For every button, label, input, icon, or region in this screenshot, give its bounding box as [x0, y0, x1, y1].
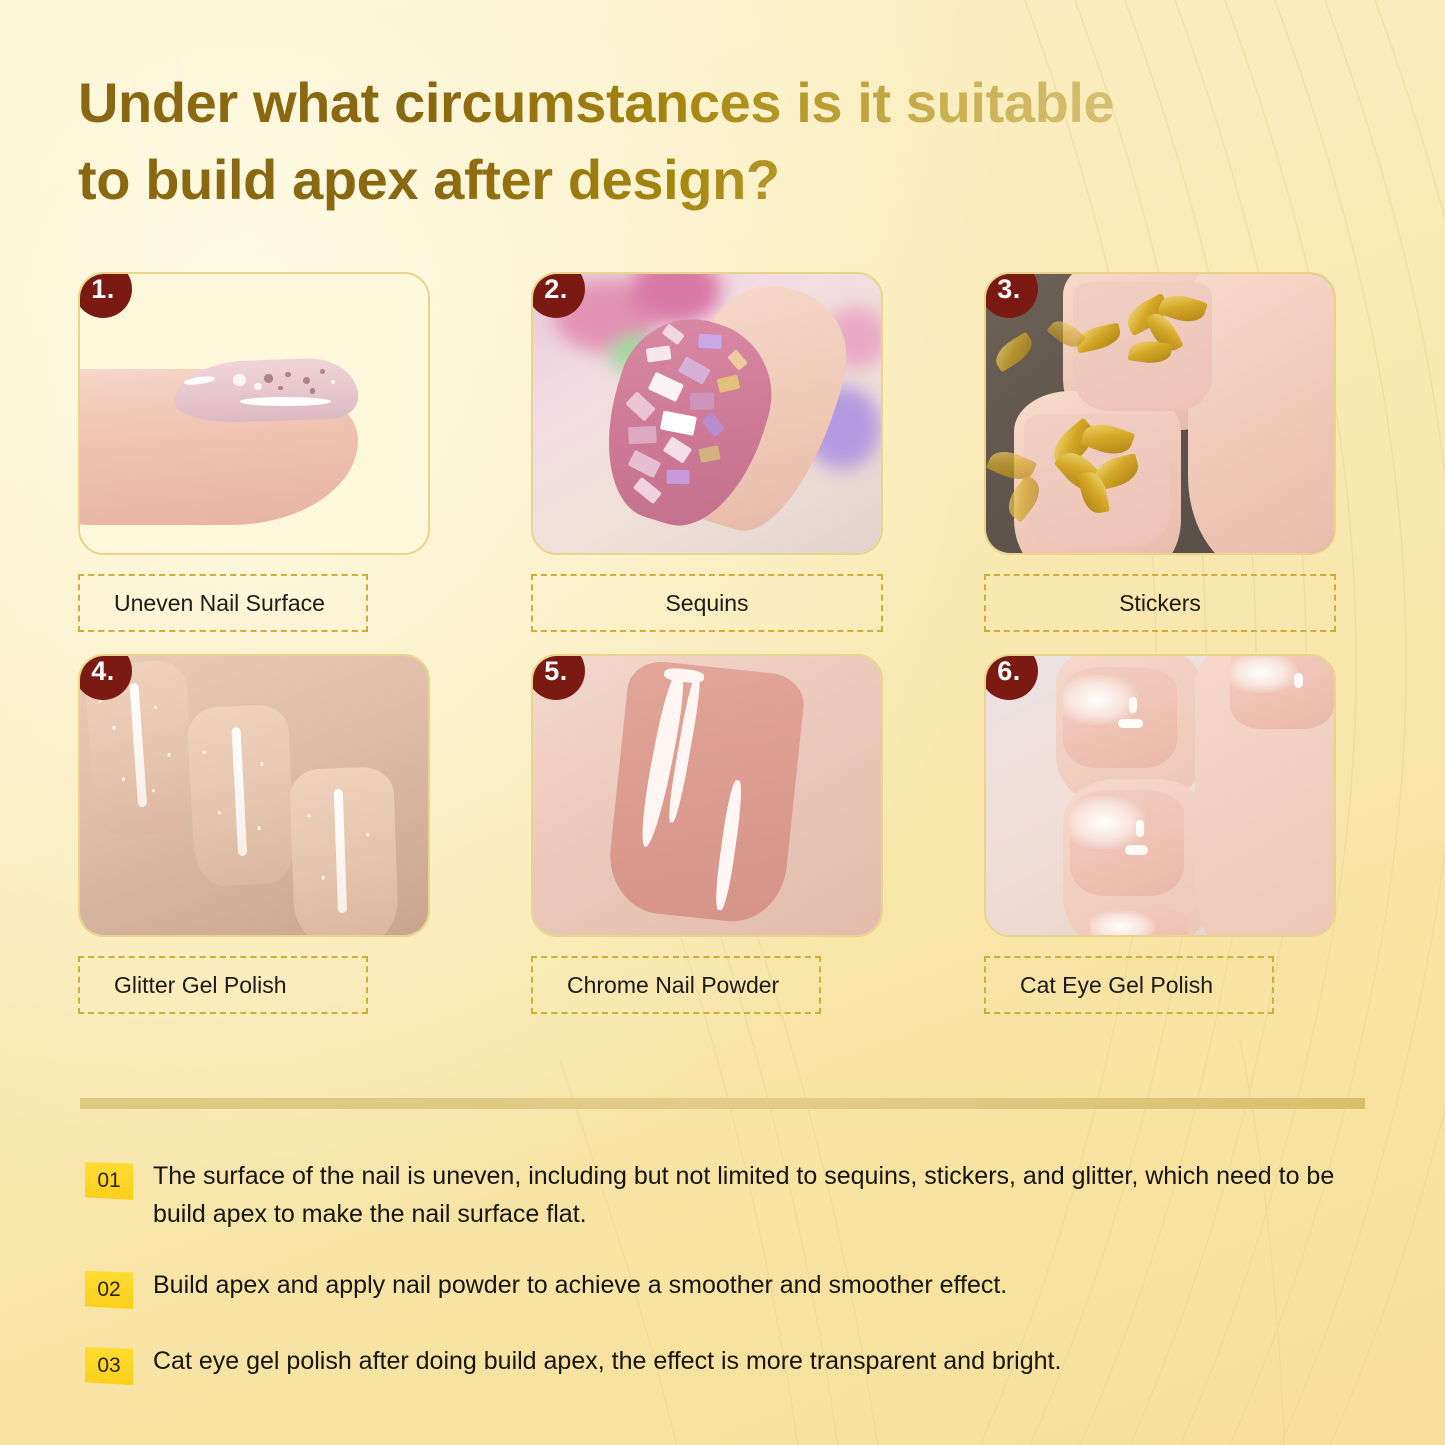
note-text: The surface of the nail is uneven, inclu… [153, 1158, 1375, 1233]
nail-photo-scene [80, 274, 428, 553]
page-title-line-2: to build apex after design? [78, 141, 1328, 218]
sequins-nail-photo: 2. [531, 272, 883, 555]
card-item[interactable]: 5. Chrome Nail Powder [531, 654, 883, 1014]
page-title-line-1: Under what circumstances is it suitable [78, 64, 1328, 141]
card-caption: Chrome Nail Powder [531, 956, 821, 1014]
glitter-gel-polish-photo: 4. [78, 654, 430, 937]
chrome-nail-powder-photo: 5. [531, 654, 883, 937]
card-caption: Glitter Gel Polish [78, 956, 368, 1014]
uneven-nail-surface-photo: 1. [78, 272, 430, 555]
card-caption: Sequins [531, 574, 883, 632]
card-item[interactable]: 1. Uneven Nail Surface [78, 272, 430, 632]
cat-eye-gel-polish-photo: 6. [984, 654, 1336, 937]
note-text: Build apex and apply nail powder to achi… [153, 1267, 1375, 1305]
card-item[interactable]: 2. Sequins [531, 272, 883, 632]
nail-photo-scene [533, 274, 881, 553]
nail-photo-scene [986, 274, 1334, 553]
nail-photo-scene [986, 656, 1334, 935]
card-caption: Uneven Nail Surface [78, 574, 368, 632]
nail-photo-scene [80, 656, 428, 935]
note-item: 03 Cat eye gel polish after doing build … [85, 1343, 1375, 1385]
note-item: 01 The surface of the nail is uneven, in… [85, 1158, 1375, 1233]
card-item[interactable]: 4. Glitter Gel Polish [78, 654, 430, 1014]
card-item[interactable]: 3. Stickers [984, 272, 1336, 632]
card-caption: Stickers [984, 574, 1336, 632]
note-number-badge: 03 [85, 1347, 133, 1385]
note-text: Cat eye gel polish after doing build ape… [153, 1343, 1375, 1381]
card-caption: Cat Eye Gel Polish [984, 956, 1274, 1014]
section-divider [80, 1098, 1365, 1109]
infographic-page: Under what circumstances is it suitable … [0, 0, 1445, 1445]
nail-photo-scene [533, 656, 881, 935]
card-item[interactable]: 6. Cat Eye Gel Polish [984, 654, 1336, 1014]
note-number-badge: 02 [85, 1271, 133, 1309]
page-title: Under what circumstances is it suitable … [78, 64, 1328, 219]
note-item: 02 Build apex and apply nail powder to a… [85, 1267, 1375, 1309]
notes-list: 01 The surface of the nail is uneven, in… [85, 1158, 1375, 1419]
note-number-badge: 01 [85, 1162, 133, 1200]
card-grid: 1. Uneven Nail Surface [78, 272, 1368, 1014]
stickers-nail-photo: 3. [984, 272, 1336, 555]
